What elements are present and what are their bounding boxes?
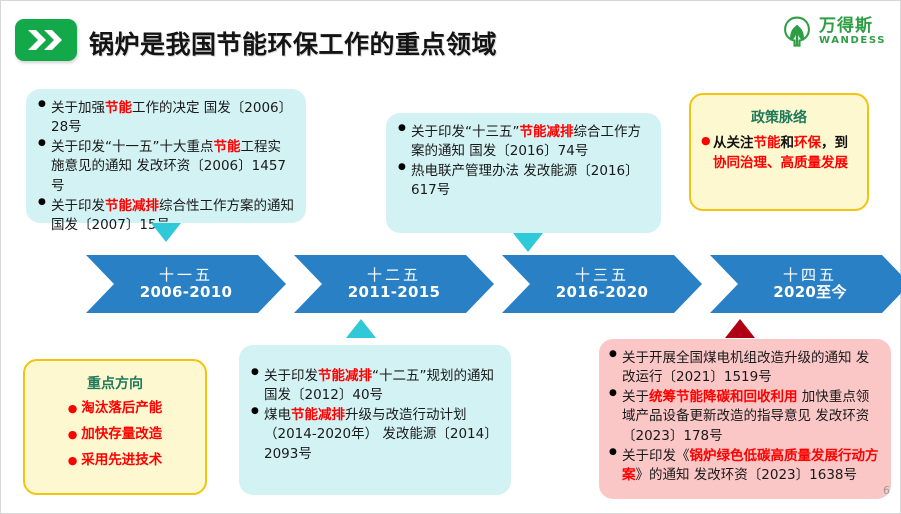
key-directions-list: 淘汰落后产能加快存量改造采用先进技术: [33, 399, 197, 470]
plain-text: 和: [781, 135, 795, 151]
connector-triangle-12th: [346, 319, 376, 338]
highlight-text: 节能: [214, 139, 241, 155]
list-item: 关于统筹节能降碳和回收利用 加快重点领域产品设备更新改造的指导意见 发改环资〔2…: [609, 388, 881, 445]
wandess-leaf-icon: [780, 15, 814, 49]
policy-list-14th: 关于开展全国煤电机组改造升级的通知 发改运行〔2021〕1519号关于统筹节能降…: [609, 349, 881, 485]
policy-box-14th-five-year: 关于开展全国煤电机组改造升级的通知 发改运行〔2021〕1519号关于统筹节能降…: [599, 339, 891, 499]
timeline-step-11th-name: 十一五: [159, 267, 213, 284]
plain-text: ，到: [821, 135, 848, 151]
key-directions-box: 重点方向 淘汰落后产能加快存量改造采用先进技术: [23, 359, 207, 495]
plain-text: 关于印发: [51, 198, 105, 214]
brand-name-en: WANDESS: [819, 36, 886, 47]
timeline-step-14th-name: 十四五: [783, 267, 837, 284]
list-item: 煤电节能减排升级与改造行动计划（2014-2020年） 发改能源〔2014〕20…: [251, 406, 499, 463]
timeline-chevron-bar: 十一五 2006-2010 十二五 2011-2015 十三五 2016-202…: [86, 255, 898, 313]
timeline-step-13th-years: 2016-2020: [556, 284, 648, 301]
policy-list-11th: 关于加强节能工作的决定 国发〔2006〕28号关于印发“十一五”十大重点节能工程…: [38, 99, 294, 235]
plain-text: 关于开展全国煤电机组改造升级的通知 发改运行〔2021〕1519号: [622, 350, 869, 385]
key-direction-text: 淘汰落后产能: [81, 400, 162, 416]
highlight-text: 节能减排: [105, 198, 159, 214]
highlight-text: 环保: [794, 135, 821, 151]
highlight-text: 节能减排: [291, 407, 345, 423]
highlight-text: 节能减排: [318, 368, 372, 384]
timeline-step-13th-name: 十三五: [575, 267, 629, 284]
key-direction-text: 加快存量改造: [81, 426, 162, 442]
list-item: 淘汰落后产能: [33, 399, 197, 418]
page-title: 锅炉是我国节能环保工作的重点领域: [89, 25, 497, 61]
plain-text: 热电联产管理办法 发改能源〔2016〕617号: [411, 163, 639, 198]
list-item: 加快存量改造: [33, 425, 197, 444]
list-item: 关于开展全国煤电机组改造升级的通知 发改运行〔2021〕1519号: [609, 349, 881, 387]
brand-logo-group: 万得斯 WANDESS: [780, 15, 886, 49]
plain-text: 关于印发“十三五”: [411, 124, 520, 140]
list-item: 关于印发“十一五”十大重点节能工程实施意见的通知 发改环资〔2006〕1457号: [38, 138, 294, 195]
double-chevron-icon: [15, 19, 77, 61]
list-item: 关于印发《锅炉绿色低碳高质量发展行动方案》的通知 发改环资〔2023〕1638号: [609, 447, 881, 485]
connector-triangle-14th: [725, 319, 755, 338]
plain-text: 关于加强: [51, 100, 105, 116]
highlight-text: 协同治理、高质量发展: [713, 155, 848, 171]
policy-context-list: 从关注节能和环保，到协同治理、高质量发展: [701, 133, 857, 174]
list-item: 采用先进技术: [33, 451, 197, 470]
timeline-step-14th[interactable]: 十四五 2020至今: [710, 255, 901, 313]
timeline-step-12th-name: 十二五: [367, 267, 421, 284]
plain-text: 关于: [622, 389, 649, 405]
list-item: 关于加强节能工作的决定 国发〔2006〕28号: [38, 99, 294, 137]
plain-text: 关于印发: [264, 368, 318, 384]
policy-list-12th: 关于印发节能减排“十二五”规划的通知 国发〔2012〕40号煤电节能减排升级与改…: [251, 367, 499, 464]
slide-canvas: 锅炉是我国节能环保工作的重点领域 万得斯 WANDESS 关于加强节能工作的决定…: [0, 0, 901, 514]
timeline-step-13th[interactable]: 十三五 2016-2020: [502, 255, 702, 313]
page-number: 6: [883, 484, 890, 497]
connector-triangle-11th: [151, 223, 181, 242]
highlight-text: 统筹节能降碳和回收利用: [649, 389, 798, 405]
brand-name-cn: 万得斯: [819, 18, 886, 36]
policy-context-title: 政策脉络: [701, 109, 857, 129]
policy-box-11th-five-year: 关于加强节能工作的决定 国发〔2006〕28号关于印发“十一五”十大重点节能工程…: [26, 89, 306, 223]
highlight-text: 节能: [754, 135, 781, 151]
timeline-step-14th-years: 2020至今: [773, 284, 847, 301]
policy-box-12th-five-year: 关于印发节能减排“十二五”规划的通知 国发〔2012〕40号煤电节能减排升级与改…: [239, 345, 511, 495]
brand-text: 万得斯 WANDESS: [819, 18, 886, 46]
policy-box-13th-five-year: 关于印发“十三五”节能减排综合工作方案的通知 国发〔2016〕74号热电联产管理…: [386, 113, 661, 233]
policy-context-box: 政策脉络 从关注节能和环保，到协同治理、高质量发展: [689, 93, 869, 211]
plain-text: 从关注: [713, 135, 754, 151]
list-item: 关于印发“十三五”节能减排综合工作方案的通知 国发〔2016〕74号: [398, 123, 649, 161]
plain-text: 煤电: [264, 407, 291, 423]
list-item: 热电联产管理办法 发改能源〔2016〕617号: [398, 162, 649, 200]
highlight-text: 节能: [105, 100, 132, 116]
timeline-step-11th-years: 2006-2010: [140, 284, 232, 301]
timeline-step-12th-years: 2011-2015: [348, 284, 440, 301]
timeline-step-11th[interactable]: 十一五 2006-2010: [86, 255, 286, 313]
key-direction-text: 采用先进技术: [81, 452, 162, 468]
connector-triangle-13th: [513, 233, 543, 252]
timeline-step-12th[interactable]: 十二五 2011-2015: [294, 255, 494, 313]
plain-text: 关于印发“十一五”十大重点: [51, 139, 214, 155]
plain-text: 》的通知 发改环资〔2023〕1638号: [636, 467, 858, 483]
policy-list-13th: 关于印发“十三五”节能减排综合工作方案的通知 国发〔2016〕74号热电联产管理…: [398, 123, 649, 201]
key-directions-title: 重点方向: [33, 375, 197, 395]
list-item: 关于印发节能减排“十二五”规划的通知 国发〔2012〕40号: [251, 367, 499, 405]
plain-text: 关于印发《: [622, 448, 690, 464]
list-item: 从关注节能和环保，到协同治理、高质量发展: [701, 133, 857, 174]
highlight-text: 节能减排: [520, 124, 574, 140]
